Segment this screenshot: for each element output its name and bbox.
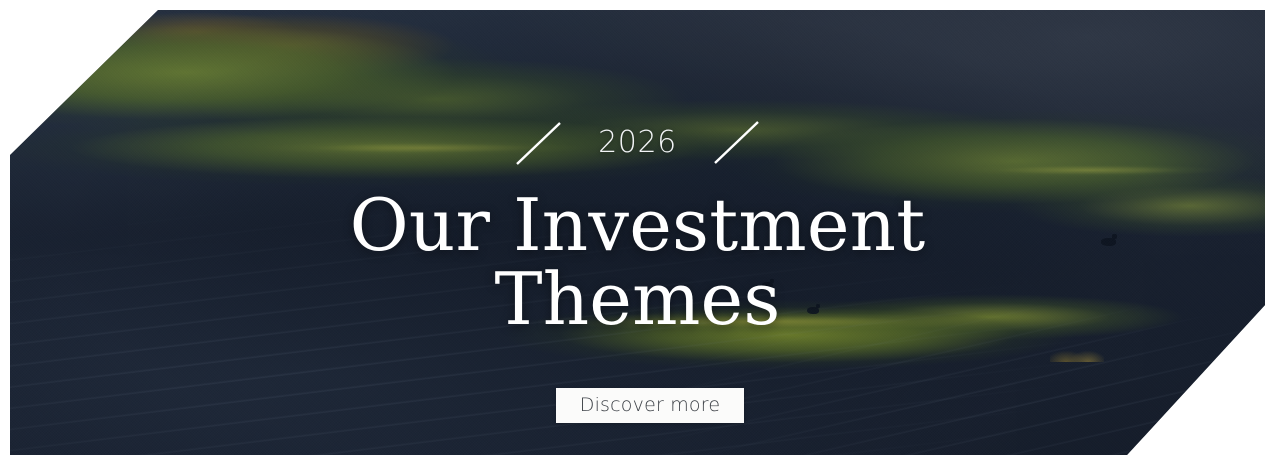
investment-themes-hero-banner: 2026 Our Investment Themes Discover more <box>10 10 1265 455</box>
discover-more-button[interactable]: Discover more <box>556 388 744 423</box>
discover-more-button-label: Discover more <box>580 396 720 415</box>
